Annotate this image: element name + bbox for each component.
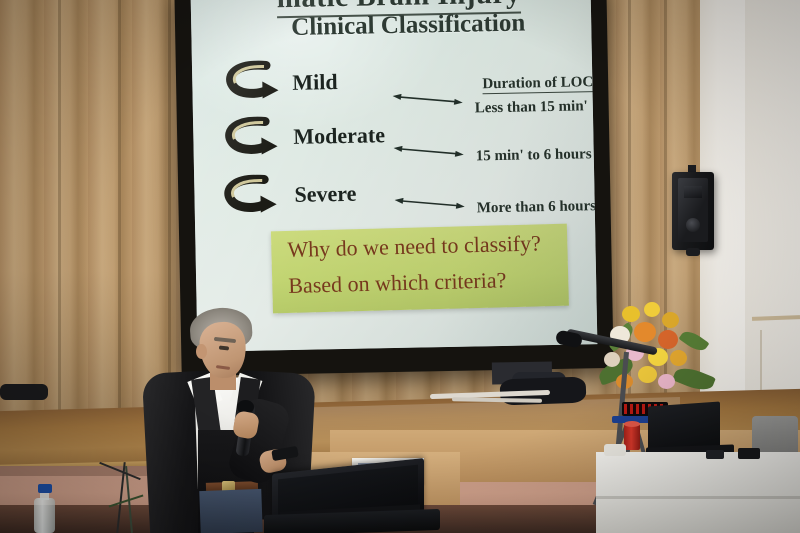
leaf <box>672 363 716 395</box>
red-cup-rim <box>624 421 640 427</box>
flower <box>658 374 675 389</box>
severity-label-severe: Severe <box>294 181 356 208</box>
flower <box>634 322 656 342</box>
double-headed-arrow-icon <box>394 145 464 158</box>
presentation-photo: matic Brain Injury Clinical Classificati… <box>0 0 800 533</box>
double-headed-arrow-icon <box>393 93 463 106</box>
severity-label-moderate: Moderate <box>293 122 385 150</box>
duration-heading: Duration of LOC: <box>482 74 597 94</box>
tablecloth-fold <box>596 496 800 499</box>
water-bottle-cap <box>38 484 52 493</box>
question-line-1: Why do we need to classify? <box>287 230 541 263</box>
pa-speaker-driver <box>686 218 700 232</box>
duration-value-moderate: 15 min' to 6 hours <box>476 146 592 165</box>
question-line-2: Based on which criteria? <box>288 267 507 299</box>
curved-u-turn-arrow-icon <box>221 116 280 155</box>
presenter-ear <box>196 344 207 359</box>
speaker-mount-bracket <box>686 248 700 256</box>
presenter-trousers <box>199 489 262 533</box>
flower <box>622 306 640 322</box>
flower <box>644 302 660 317</box>
curved-u-turn-arrow-icon <box>220 174 279 213</box>
double-headed-arrow-icon <box>395 197 465 210</box>
remote-control[interactable] <box>706 450 724 459</box>
pa-speaker-tweeter <box>684 186 702 198</box>
water-bottle <box>34 498 55 533</box>
flower <box>662 312 679 328</box>
severity-label-mild: Mild <box>292 69 338 96</box>
flower <box>670 350 687 366</box>
table-with-cloth <box>596 452 800 533</box>
slide-subtitle: Clinical Classification <box>291 9 526 41</box>
duration-value-mild: Less than 15 min' <box>475 98 588 117</box>
duration-value-severe: More than 6 hours <box>477 198 597 217</box>
mobile-phone[interactable] <box>738 448 760 459</box>
flower <box>658 330 678 349</box>
white-table-object <box>604 444 626 456</box>
curved-u-turn-arrow-icon <box>222 60 281 99</box>
flower <box>604 352 620 367</box>
flower <box>638 366 657 383</box>
red-cup <box>624 424 640 450</box>
stage-dark-object <box>0 384 48 400</box>
